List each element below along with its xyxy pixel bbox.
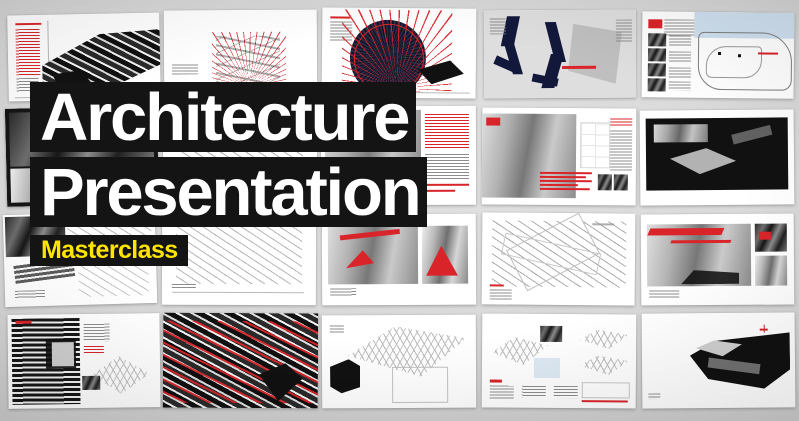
hero-banner: Architecture Presentation Masterclass bbox=[0, 0, 799, 421]
hero-title-line-2: Presentation bbox=[30, 157, 427, 227]
hero-title-block: Architecture Presentation Masterclass bbox=[0, 0, 799, 421]
masterclass-badge: Masterclass bbox=[30, 235, 188, 266]
hero-title-line-1: Architecture bbox=[30, 82, 416, 152]
